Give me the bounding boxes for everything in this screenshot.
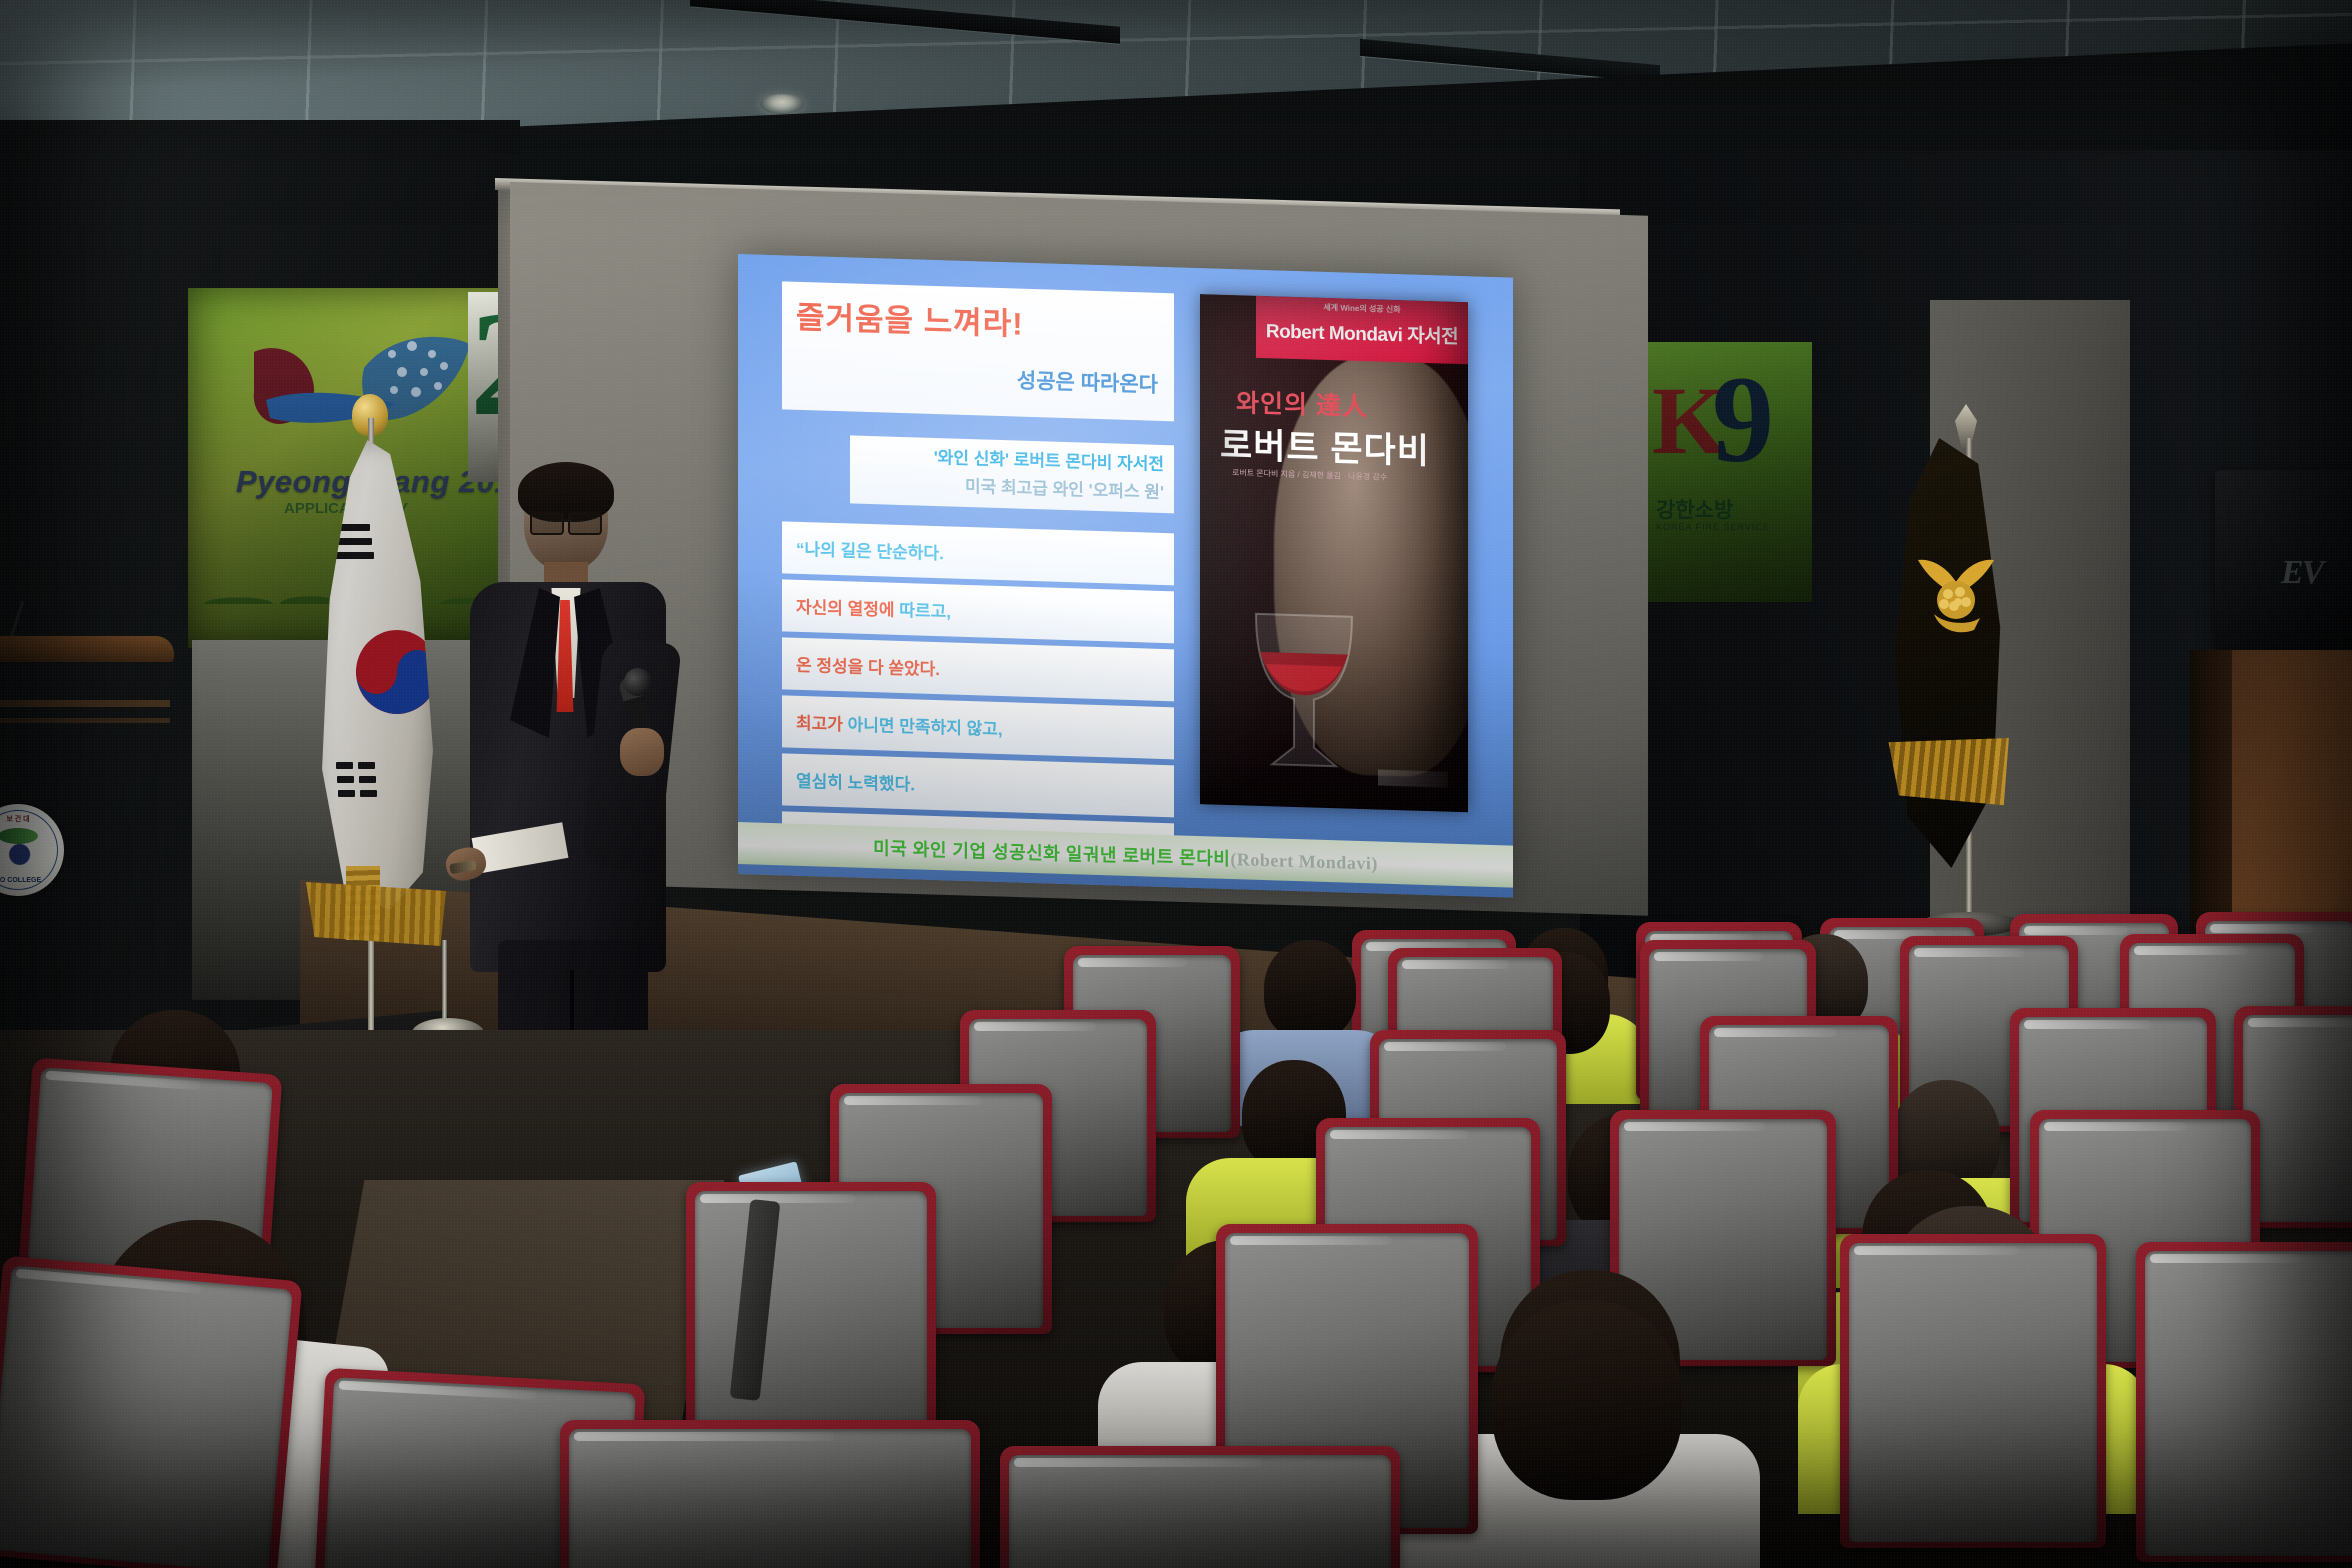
seat-highlight bbox=[2210, 924, 2314, 933]
slide-book-info-line1: '와인 신화' 로버트 몬다비 자서전 bbox=[934, 443, 1164, 475]
quote-lead-2: 자신의 열정에 bbox=[796, 598, 895, 620]
college-emblem: 보 건 대 HO COLLEGE bbox=[0, 804, 64, 896]
seat-highlight bbox=[1078, 958, 1187, 967]
seat-highlight bbox=[2024, 1020, 2152, 1029]
trigram-geon-3 bbox=[336, 552, 374, 559]
institutional-flag-emblem-icon bbox=[1912, 552, 2000, 644]
korean-flag-fringe bbox=[306, 882, 446, 946]
taegeuk-red-circle bbox=[356, 650, 397, 694]
quote-row-2: 자신의 열정에 따르고, bbox=[782, 579, 1174, 643]
seat-highlight bbox=[700, 1194, 855, 1203]
seat bbox=[1000, 1446, 1400, 1568]
cabinet-side-panel bbox=[2190, 650, 2232, 945]
seat-highlight bbox=[1624, 1122, 1764, 1131]
book-cover-vignette bbox=[1200, 294, 1468, 812]
quote-row-1: “나의 길은 단순하다. bbox=[782, 521, 1174, 585]
quote-row-3: 온 정성을 다 쏟았다. bbox=[782, 637, 1174, 701]
seat-highlight bbox=[1854, 1246, 2019, 1255]
seat-highlight bbox=[2134, 946, 2248, 955]
seat-back-pad bbox=[2145, 1251, 2352, 1556]
seat bbox=[1840, 1234, 2106, 1548]
seat-highlight bbox=[1914, 948, 2024, 957]
emblem-swirl-icon bbox=[0, 840, 34, 876]
presenter-glasses-icon bbox=[530, 512, 602, 532]
glasses-lens-right bbox=[568, 512, 602, 535]
seat-highlight bbox=[1402, 960, 1510, 969]
seat-back-pad bbox=[569, 1429, 971, 1568]
lectern-molding-2 bbox=[0, 718, 170, 723]
seat-back-pad bbox=[1009, 1455, 1391, 1568]
slide-subtitle: 성공은 따라온다 bbox=[1017, 365, 1158, 399]
seat-highlight bbox=[2044, 1122, 2187, 1131]
taegeuk-blue-circle bbox=[397, 650, 438, 694]
emblem-english-text: HO COLLEGE bbox=[0, 877, 64, 884]
trigram-gon-1b bbox=[358, 762, 375, 769]
quote-lead-4: 최고가 bbox=[796, 714, 843, 734]
slide-book-info-line2: 미국 최고급 와인 '오퍼스 원' bbox=[965, 472, 1164, 503]
seat-highlight bbox=[2248, 1018, 2352, 1027]
seat-back-pad bbox=[1849, 1243, 2097, 1542]
ev-loudspeaker: EV bbox=[2215, 470, 2352, 650]
audience-head bbox=[1492, 1300, 1682, 1500]
presenter-right-hand bbox=[620, 728, 664, 776]
seat-highlight bbox=[1714, 1028, 1837, 1037]
seat-highlight bbox=[1330, 1130, 1469, 1139]
projection-screen: 즐거움을 느껴라! 성공은 따라온다 '와인 신화' 로버트 몬다비 자서전 미… bbox=[510, 182, 1648, 882]
seat-highlight bbox=[1654, 952, 1763, 961]
book-cover-image: 세계 Wine의 성공 신화 Robert Mondavi 자서전 와인의 達人… bbox=[1200, 294, 1468, 812]
seat-highlight bbox=[1014, 1458, 1262, 1467]
slide-title-box: 즐거움을 느껴라! 성공은 따라온다 bbox=[782, 281, 1174, 421]
downlight-icon-1 bbox=[760, 94, 804, 114]
k9-dim bbox=[1634, 342, 1812, 602]
korean-flag bbox=[300, 430, 448, 960]
seat-highlight bbox=[2150, 1254, 2301, 1263]
trigram-gon-1a bbox=[336, 762, 353, 769]
lectern-molding-1 bbox=[0, 700, 170, 707]
trigram-gon-2a bbox=[337, 776, 354, 783]
auditorium-photo: PyeongChang 2018 APPLICANT CITY 2 K 9 강한… bbox=[0, 0, 2352, 1568]
seat-highlight bbox=[1230, 1236, 1392, 1245]
slide-book-info-box: '와인 신화' 로버트 몬다비 자서전 미국 최고급 와인 '오퍼스 원' bbox=[850, 435, 1174, 513]
quote-tail-3: 다 쏟았다. bbox=[863, 658, 940, 679]
projected-slide: 즐거움을 느껴라! 성공은 따라온다 '와인 신화' 로버트 몬다비 자서전 미… bbox=[738, 254, 1513, 898]
quote-row-5: 열심히 노력했다. bbox=[782, 753, 1174, 817]
quote-text-5: 열심히 노력했다. bbox=[796, 767, 915, 796]
slide-footer-korean: 미국 와인 기업 성공신화 일궈낸 로버트 몬다비 bbox=[873, 838, 1230, 869]
seat bbox=[2136, 1242, 2352, 1562]
seat-back-pad bbox=[0, 1265, 293, 1568]
seat-highlight bbox=[574, 1432, 834, 1441]
trigram-geon-1 bbox=[332, 524, 370, 531]
quote-text-1: “나의 길은 단순하다. bbox=[796, 535, 944, 565]
presenter bbox=[452, 470, 672, 1090]
trigram-gon-2b bbox=[359, 776, 376, 783]
quote-tail-2: 따르고, bbox=[895, 601, 951, 622]
quote-row-4: 최고가 아니면 만족하지 않고, bbox=[782, 695, 1174, 759]
seat-highlight bbox=[844, 1096, 982, 1105]
quote-text-2: 자신의 열정에 따르고, bbox=[796, 593, 951, 623]
emblem-korean-text: 보 건 대 bbox=[0, 814, 64, 824]
slide-footer-english: (Robert Mondavi) bbox=[1230, 849, 1377, 874]
slide-title: 즐거움을 느껴라! bbox=[796, 292, 1024, 344]
trigram-gon-3b bbox=[360, 790, 377, 797]
seat bbox=[560, 1420, 980, 1568]
taegeuk-symbol-icon bbox=[356, 630, 438, 714]
seat bbox=[0, 1255, 303, 1568]
slide-footer-text: 미국 와인 기업 성공신화 일궈낸 로버트 몬다비(Robert Mondavi… bbox=[738, 830, 1513, 880]
quote-tail-4: 아니면 만족하지 않고, bbox=[843, 715, 1003, 739]
quote-text-3: 온 정성을 다 쏟았다. bbox=[796, 651, 940, 680]
audience-head bbox=[1264, 940, 1356, 1040]
trigram-geon-2 bbox=[334, 538, 372, 545]
seat-highlight bbox=[974, 1022, 1096, 1031]
seat-highlight bbox=[1384, 1042, 1506, 1051]
korean-flag-cloth bbox=[312, 440, 438, 910]
quote-text-4: 최고가 아니면 만족하지 않고, bbox=[796, 709, 1003, 740]
k9-banner: K 9 강한소방 KOREA FIRE SERVICE bbox=[1634, 342, 1812, 602]
quote-lead-3: 온 정성을 bbox=[796, 656, 863, 677]
ev-brand-logo: EV bbox=[2281, 554, 2322, 592]
seat-highlight bbox=[2024, 926, 2128, 935]
trigram-gon-3a bbox=[338, 790, 355, 797]
glasses-lens-left bbox=[530, 512, 564, 535]
